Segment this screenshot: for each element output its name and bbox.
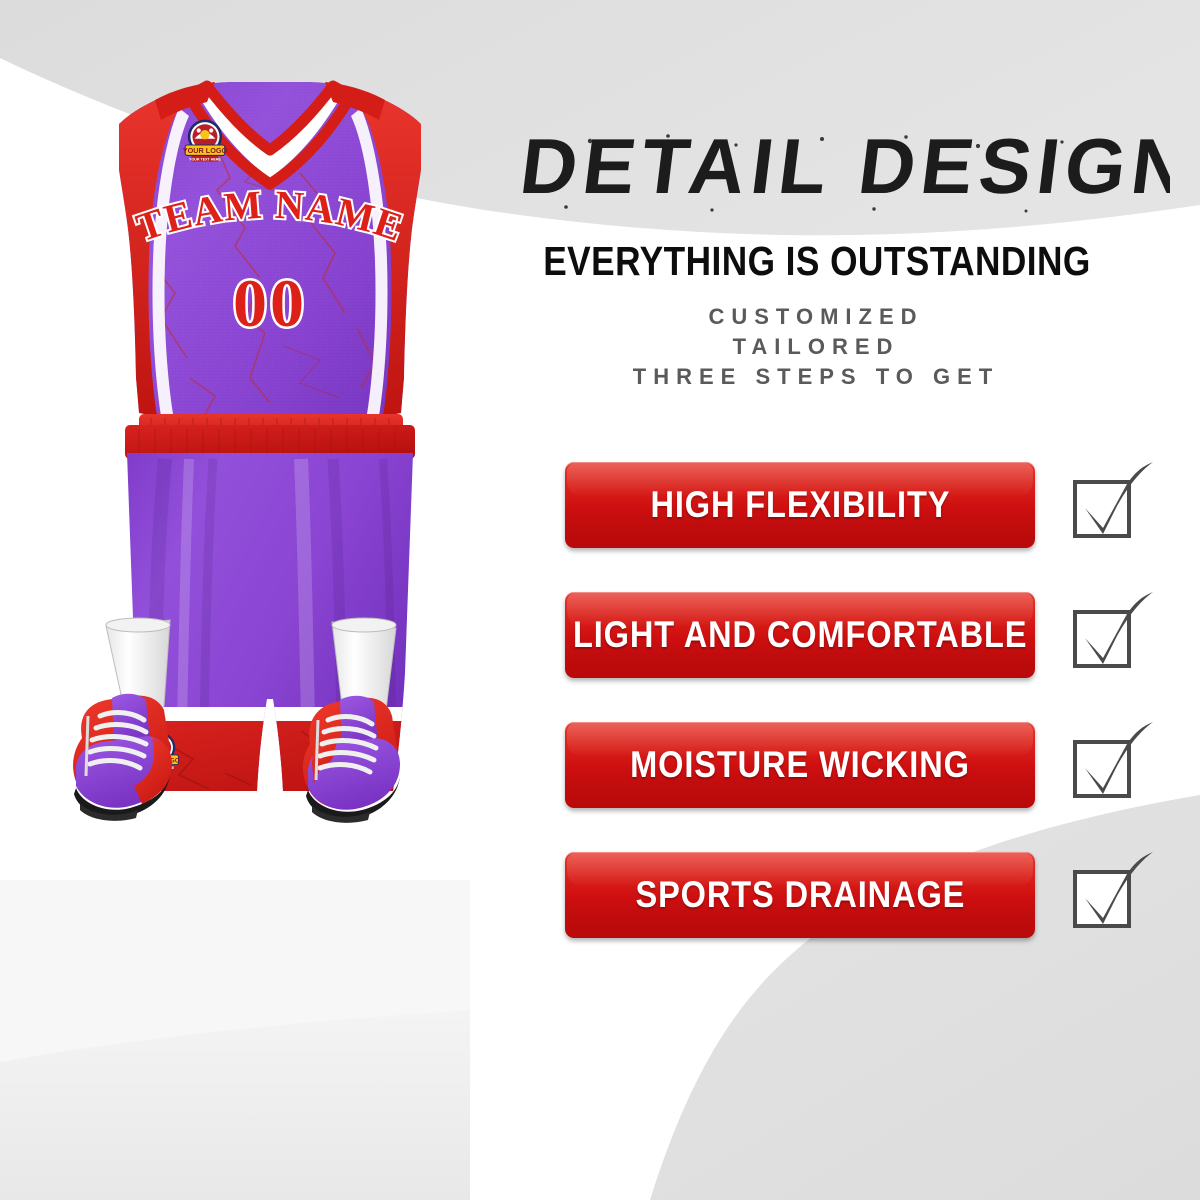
feature-list: HIGH FLEXIBILITY LIGHT AND COMFORTABLE bbox=[460, 455, 1200, 975]
tagline-3: THREE STEPS TO GET bbox=[460, 362, 1172, 392]
poster-canvas: YOUR LOGO YOUR TEXT HERE TEAM NAME 00 bbox=[0, 0, 1200, 1200]
feature-banner-high-flexibility[interactable]: HIGH FLEXIBILITY bbox=[565, 462, 1035, 548]
feature-banner-light-and-comfortable[interactable]: LIGHT AND COMFORTABLE bbox=[565, 592, 1035, 678]
checkmark-icon[interactable] bbox=[1065, 720, 1157, 806]
page-title: DETAIL DESIGN bbox=[470, 115, 1170, 220]
tagline-1: CUSTOMIZED bbox=[460, 302, 1172, 332]
checkmark-icon[interactable] bbox=[1065, 460, 1157, 546]
checkmark-icon[interactable] bbox=[1065, 850, 1157, 936]
shoes-image bbox=[60, 598, 480, 868]
shoe-right bbox=[303, 618, 400, 823]
feature-label: SPORTS DRAINAGE bbox=[635, 874, 965, 916]
feature-row-sports-drainage: SPORTS DRAINAGE bbox=[460, 845, 1200, 975]
jersey-image: YOUR LOGO YOUR TEXT HERE TEAM NAME 00 bbox=[95, 78, 445, 453]
feature-label: HIGH FLEXIBILITY bbox=[650, 484, 950, 526]
uniform-group: YOUR LOGO YOUR TEXT HERE TEAM NAME 00 bbox=[95, 78, 445, 818]
feature-label: LIGHT AND COMFORTABLE bbox=[573, 614, 1027, 656]
svg-text:YOUR TEXT HERE: YOUR TEXT HERE bbox=[189, 158, 221, 162]
svg-text:YOUR LOGO: YOUR LOGO bbox=[183, 146, 228, 155]
tagline-2: TAILORED bbox=[460, 332, 1172, 362]
feature-label: MOISTURE WICKING bbox=[630, 744, 970, 786]
page-title-text: DETAIL DESIGN bbox=[516, 122, 1170, 210]
feature-row-high-flexibility: HIGH FLEXIBILITY bbox=[460, 455, 1200, 585]
page-subtitle: EVERYTHING IS OUTSTANDING bbox=[512, 238, 1123, 285]
feature-banner-sports-drainage[interactable]: SPORTS DRAINAGE bbox=[565, 852, 1035, 938]
jersey-number: 00 bbox=[233, 265, 307, 341]
feature-banner-moisture-wicking[interactable]: MOISTURE WICKING bbox=[565, 722, 1035, 808]
product-showcase: YOUR LOGO YOUR TEXT HERE TEAM NAME 00 bbox=[0, 0, 470, 1200]
content-column: DETAIL DESIGN EVERYTHING IS OUTSTANDING … bbox=[460, 0, 1200, 1200]
feature-row-light-and-comfortable: LIGHT AND COMFORTABLE bbox=[460, 585, 1200, 715]
feature-row-moisture-wicking: MOISTURE WICKING bbox=[460, 715, 1200, 845]
shoe-left bbox=[73, 618, 172, 821]
checkmark-icon[interactable] bbox=[1065, 590, 1157, 676]
tagline-list: CUSTOMIZED TAILORED THREE STEPS TO GET bbox=[460, 302, 1172, 392]
